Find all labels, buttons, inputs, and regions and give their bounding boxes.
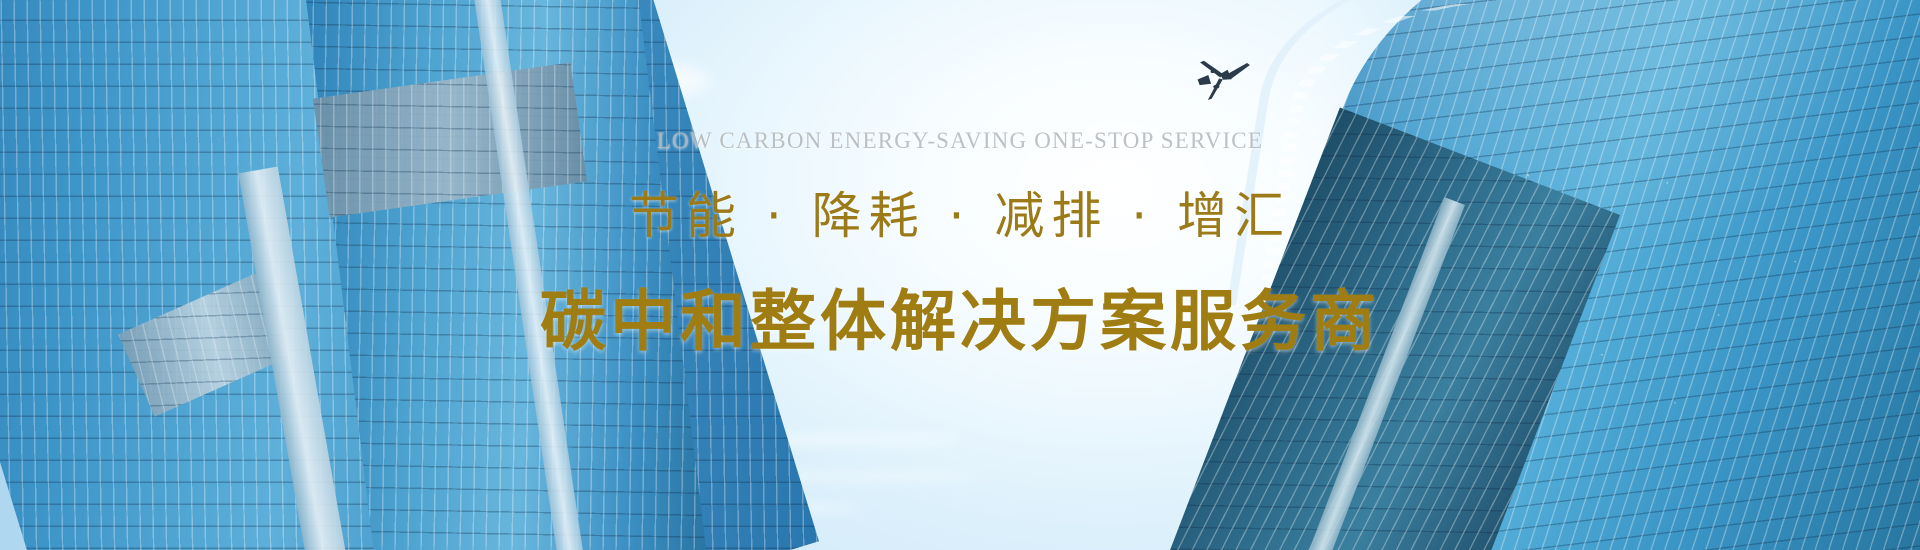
hero-banner: LOW CARBON ENERGY-SAVING ONE-STOP SERVIC… — [0, 0, 1920, 550]
building-edge-feather-left — [430, 0, 580, 550]
